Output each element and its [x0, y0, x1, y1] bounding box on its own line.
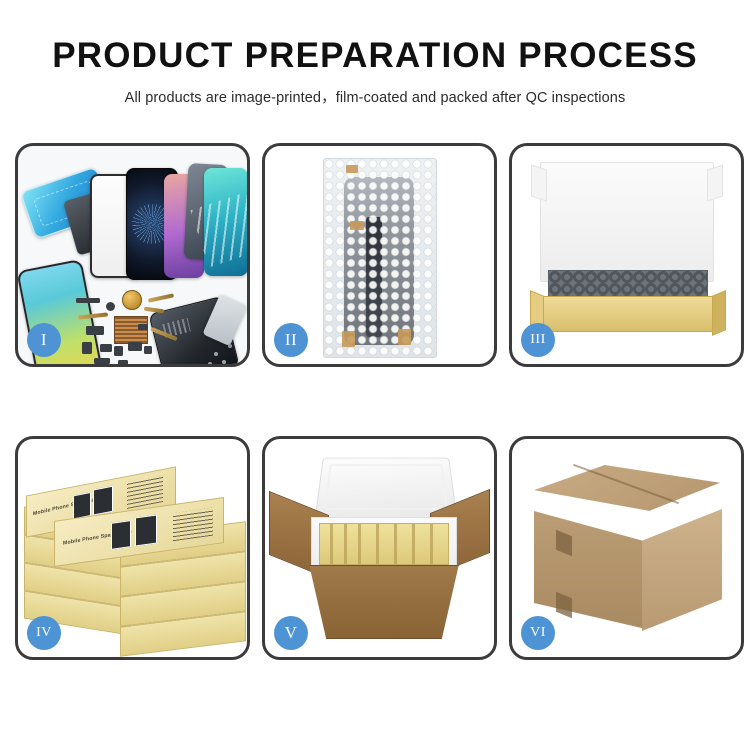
box-divider	[344, 524, 347, 564]
phone-teal-display	[204, 168, 247, 276]
spare-part	[114, 346, 123, 356]
spare-part	[94, 358, 110, 364]
foam-lid-open	[315, 458, 458, 519]
box-divider	[430, 524, 433, 564]
spare-part	[128, 342, 142, 351]
box-divider	[412, 524, 415, 564]
process-step-grid: I II I	[15, 143, 735, 688]
spare-part	[138, 324, 148, 330]
process-step-panel-1: I	[15, 143, 250, 367]
step-badge-6: VI	[521, 616, 555, 650]
box-divider	[330, 524, 333, 564]
step-badge-5: V	[274, 616, 308, 650]
box-artwork-screen	[93, 486, 113, 516]
box-divider	[394, 524, 397, 564]
process-step-panel-3: III	[509, 143, 744, 367]
step-badge-3: III	[521, 323, 555, 357]
page-subtitle: All products are image-printed，film-coat…	[0, 86, 750, 107]
loaded-retail-boxes	[319, 523, 449, 565]
screw-part	[214, 352, 218, 356]
tape-piece	[350, 221, 364, 230]
carton-side-face	[642, 509, 722, 631]
spare-part	[106, 302, 115, 311]
header: PRODUCT PREPARATION PROCESS All products…	[0, 38, 750, 107]
tape-piece	[346, 165, 358, 173]
vibration-motor-part	[122, 290, 142, 310]
tape-piece	[398, 329, 411, 345]
box-artwork-screen	[111, 520, 131, 550]
kraft-inner-box-base	[538, 296, 718, 332]
box-artwork-screen	[135, 514, 157, 546]
process-step-panel-6: VI	[509, 436, 744, 660]
box-divider	[358, 524, 361, 564]
spare-part	[144, 346, 152, 354]
process-step-panel-2: II	[262, 143, 497, 367]
bubble-texture	[324, 159, 436, 357]
process-step-panel-4: Mobile Phone Spare Parts Mobile Phone Sp…	[15, 436, 250, 660]
box-spec-lines	[173, 508, 213, 542]
spare-part	[82, 342, 92, 354]
step-badge-2: II	[274, 323, 308, 357]
carton-body	[299, 565, 469, 639]
spare-part	[118, 360, 128, 364]
bubble-wrap-bag	[323, 158, 437, 358]
tape-piece	[342, 331, 355, 347]
screw-part	[208, 362, 212, 364]
box-divider	[376, 524, 379, 564]
step-badge-4: IV	[27, 616, 61, 650]
logic-board-chip	[114, 316, 148, 344]
flex-cable	[148, 293, 174, 302]
process-step-panel-5: V	[262, 436, 497, 660]
page-title: PRODUCT PREPARATION PROCESS	[0, 38, 750, 75]
spare-part	[86, 326, 104, 335]
spare-part	[76, 298, 100, 303]
screw-part	[222, 360, 226, 364]
spare-part	[100, 344, 112, 352]
retail-box-stack: Mobile Phone Spare Parts Mobile Phone Sp…	[24, 457, 247, 647]
foam-lid	[540, 162, 714, 282]
step-badge-1: I	[27, 323, 61, 357]
carton-front-face	[534, 511, 646, 629]
product-preparation-infographic: PRODUCT PREPARATION PROCESS All products…	[0, 0, 750, 750]
